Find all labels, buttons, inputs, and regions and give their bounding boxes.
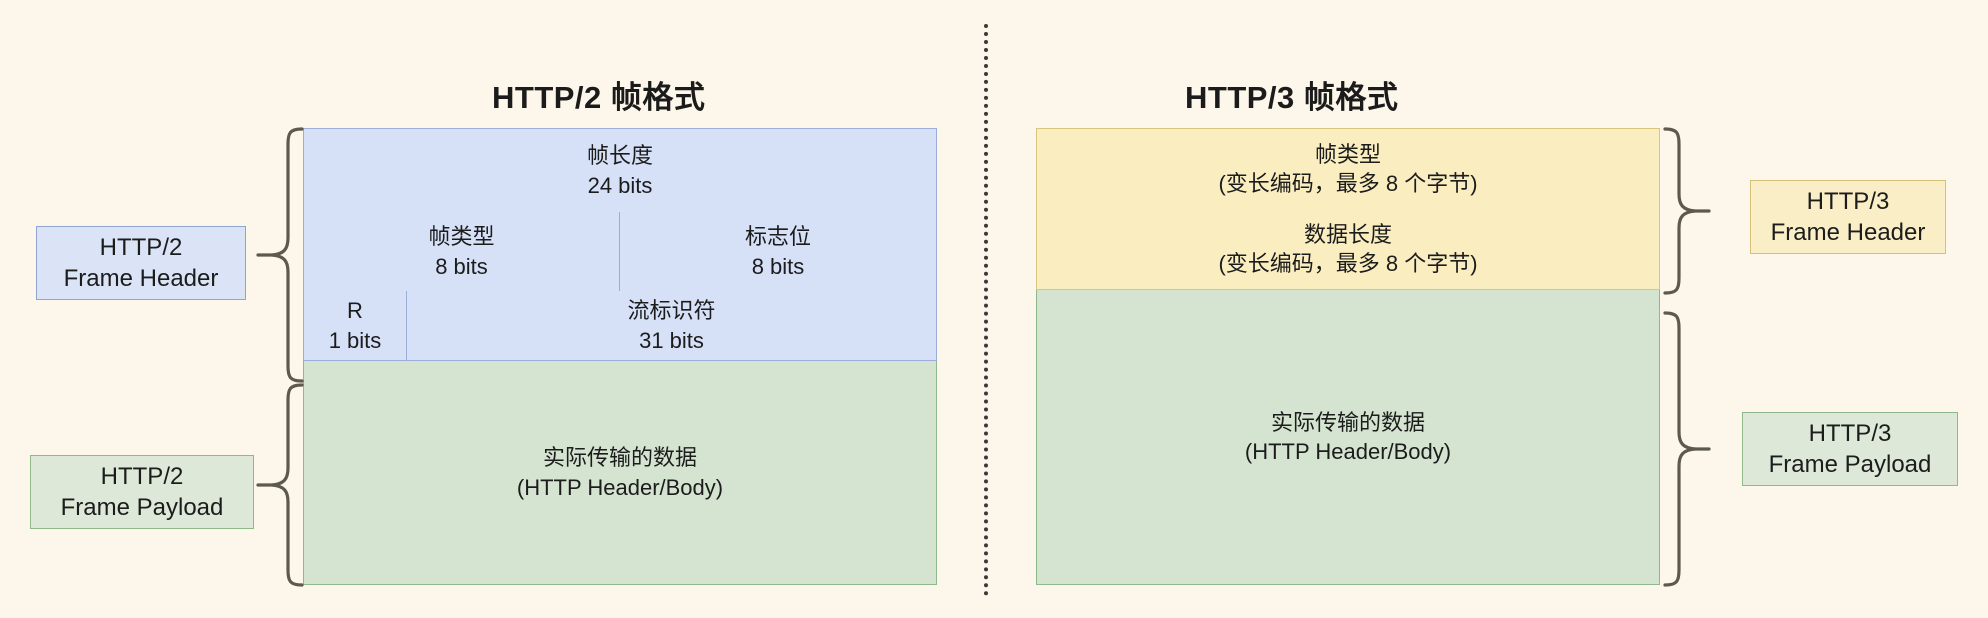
legend-line-2: Frame Header (64, 263, 219, 294)
http3-frame-diagram: 帧类型 (变长编码，最多 8 个字节) 数据长度 (变长编码，最多 8 个字节)… (1036, 128, 1660, 585)
legend-line-2: Frame Payload (1769, 449, 1932, 480)
http3-frame-header-legend: HTTP/3 Frame Header (1750, 180, 1946, 254)
http2-field-frame-type: 帧类型 8 bits (303, 212, 620, 291)
http3-field-frame-type: 帧类型 (变长编码，最多 8 个字节) (1036, 128, 1660, 209)
legend-line-2: Frame Payload (61, 492, 224, 523)
field-name: 帧类型 (1315, 140, 1381, 169)
http2-field-frame-length: 帧长度 24 bits (303, 128, 937, 212)
field-name: 实际传输的数据 (543, 443, 697, 472)
http2-frame-header-legend: HTTP/2 Frame Header (36, 226, 246, 300)
field-size: 24 bits (588, 171, 653, 200)
field-detail: (HTTP Header/Body) (1245, 437, 1451, 466)
field-size: 8 bits (435, 252, 488, 281)
http2-field-stream-identifier: 流标识符 31 bits (407, 291, 937, 361)
legend-line-1: HTTP/3 (1807, 186, 1890, 217)
http2-field-reserved: R 1 bits (303, 291, 407, 361)
legend-line-1: HTTP/2 (101, 461, 184, 492)
http2-header-brace (258, 126, 304, 384)
field-detail: (HTTP Header/Body) (517, 473, 723, 502)
legend-line-1: HTTP/3 (1809, 418, 1892, 449)
http2-diagram-title: HTTP/2 帧格式 (492, 72, 705, 117)
http2-row-type-flags: 帧类型 8 bits 标志位 8 bits (303, 212, 937, 291)
http3-header-brace (1663, 126, 1709, 296)
http3-field-payload: 实际传输的数据 (HTTP Header/Body) (1036, 290, 1660, 585)
field-size: 8 bits (752, 252, 805, 281)
field-name: 标志位 (745, 222, 811, 251)
http2-field-payload: 实际传输的数据 (HTTP Header/Body) (303, 361, 937, 585)
field-name: R (347, 296, 363, 325)
field-name: 流标识符 (627, 296, 715, 325)
http3-frame-payload-legend: HTTP/3 Frame Payload (1742, 412, 1958, 486)
diagram-canvas: HTTP/2 帧格式 帧长度 24 bits 帧类型 8 bits 标志位 8 … (0, 0, 1988, 618)
http3-diagram-title: HTTP/3 帧格式 (1185, 72, 1398, 117)
http2-field-flags: 标志位 8 bits (620, 212, 937, 291)
field-name: 帧长度 (587, 141, 653, 170)
field-name: 实际传输的数据 (1271, 408, 1425, 437)
field-name: 数据长度 (1304, 220, 1392, 249)
field-size: 31 bits (639, 326, 704, 355)
http2-payload-brace (258, 382, 304, 588)
legend-line-2: Frame Header (1771, 217, 1926, 248)
field-name: 帧类型 (428, 222, 494, 251)
field-detail: (变长编码，最多 8 个字节) (1218, 249, 1477, 278)
http2-frame-payload-legend: HTTP/2 Frame Payload (30, 455, 254, 529)
field-detail: (变长编码，最多 8 个字节) (1218, 169, 1477, 198)
http2-frame-diagram: 帧长度 24 bits 帧类型 8 bits 标志位 8 bits R 1 bi… (303, 128, 937, 585)
vertical-dashed-divider (984, 24, 988, 596)
legend-line-1: HTTP/2 (100, 232, 183, 263)
field-size: 1 bits (329, 326, 382, 355)
http3-payload-brace (1663, 310, 1709, 588)
http2-row-reserved-streamid: R 1 bits 流标识符 31 bits (303, 291, 937, 361)
http3-field-data-length: 数据长度 (变长编码，最多 8 个字节) (1036, 209, 1660, 290)
